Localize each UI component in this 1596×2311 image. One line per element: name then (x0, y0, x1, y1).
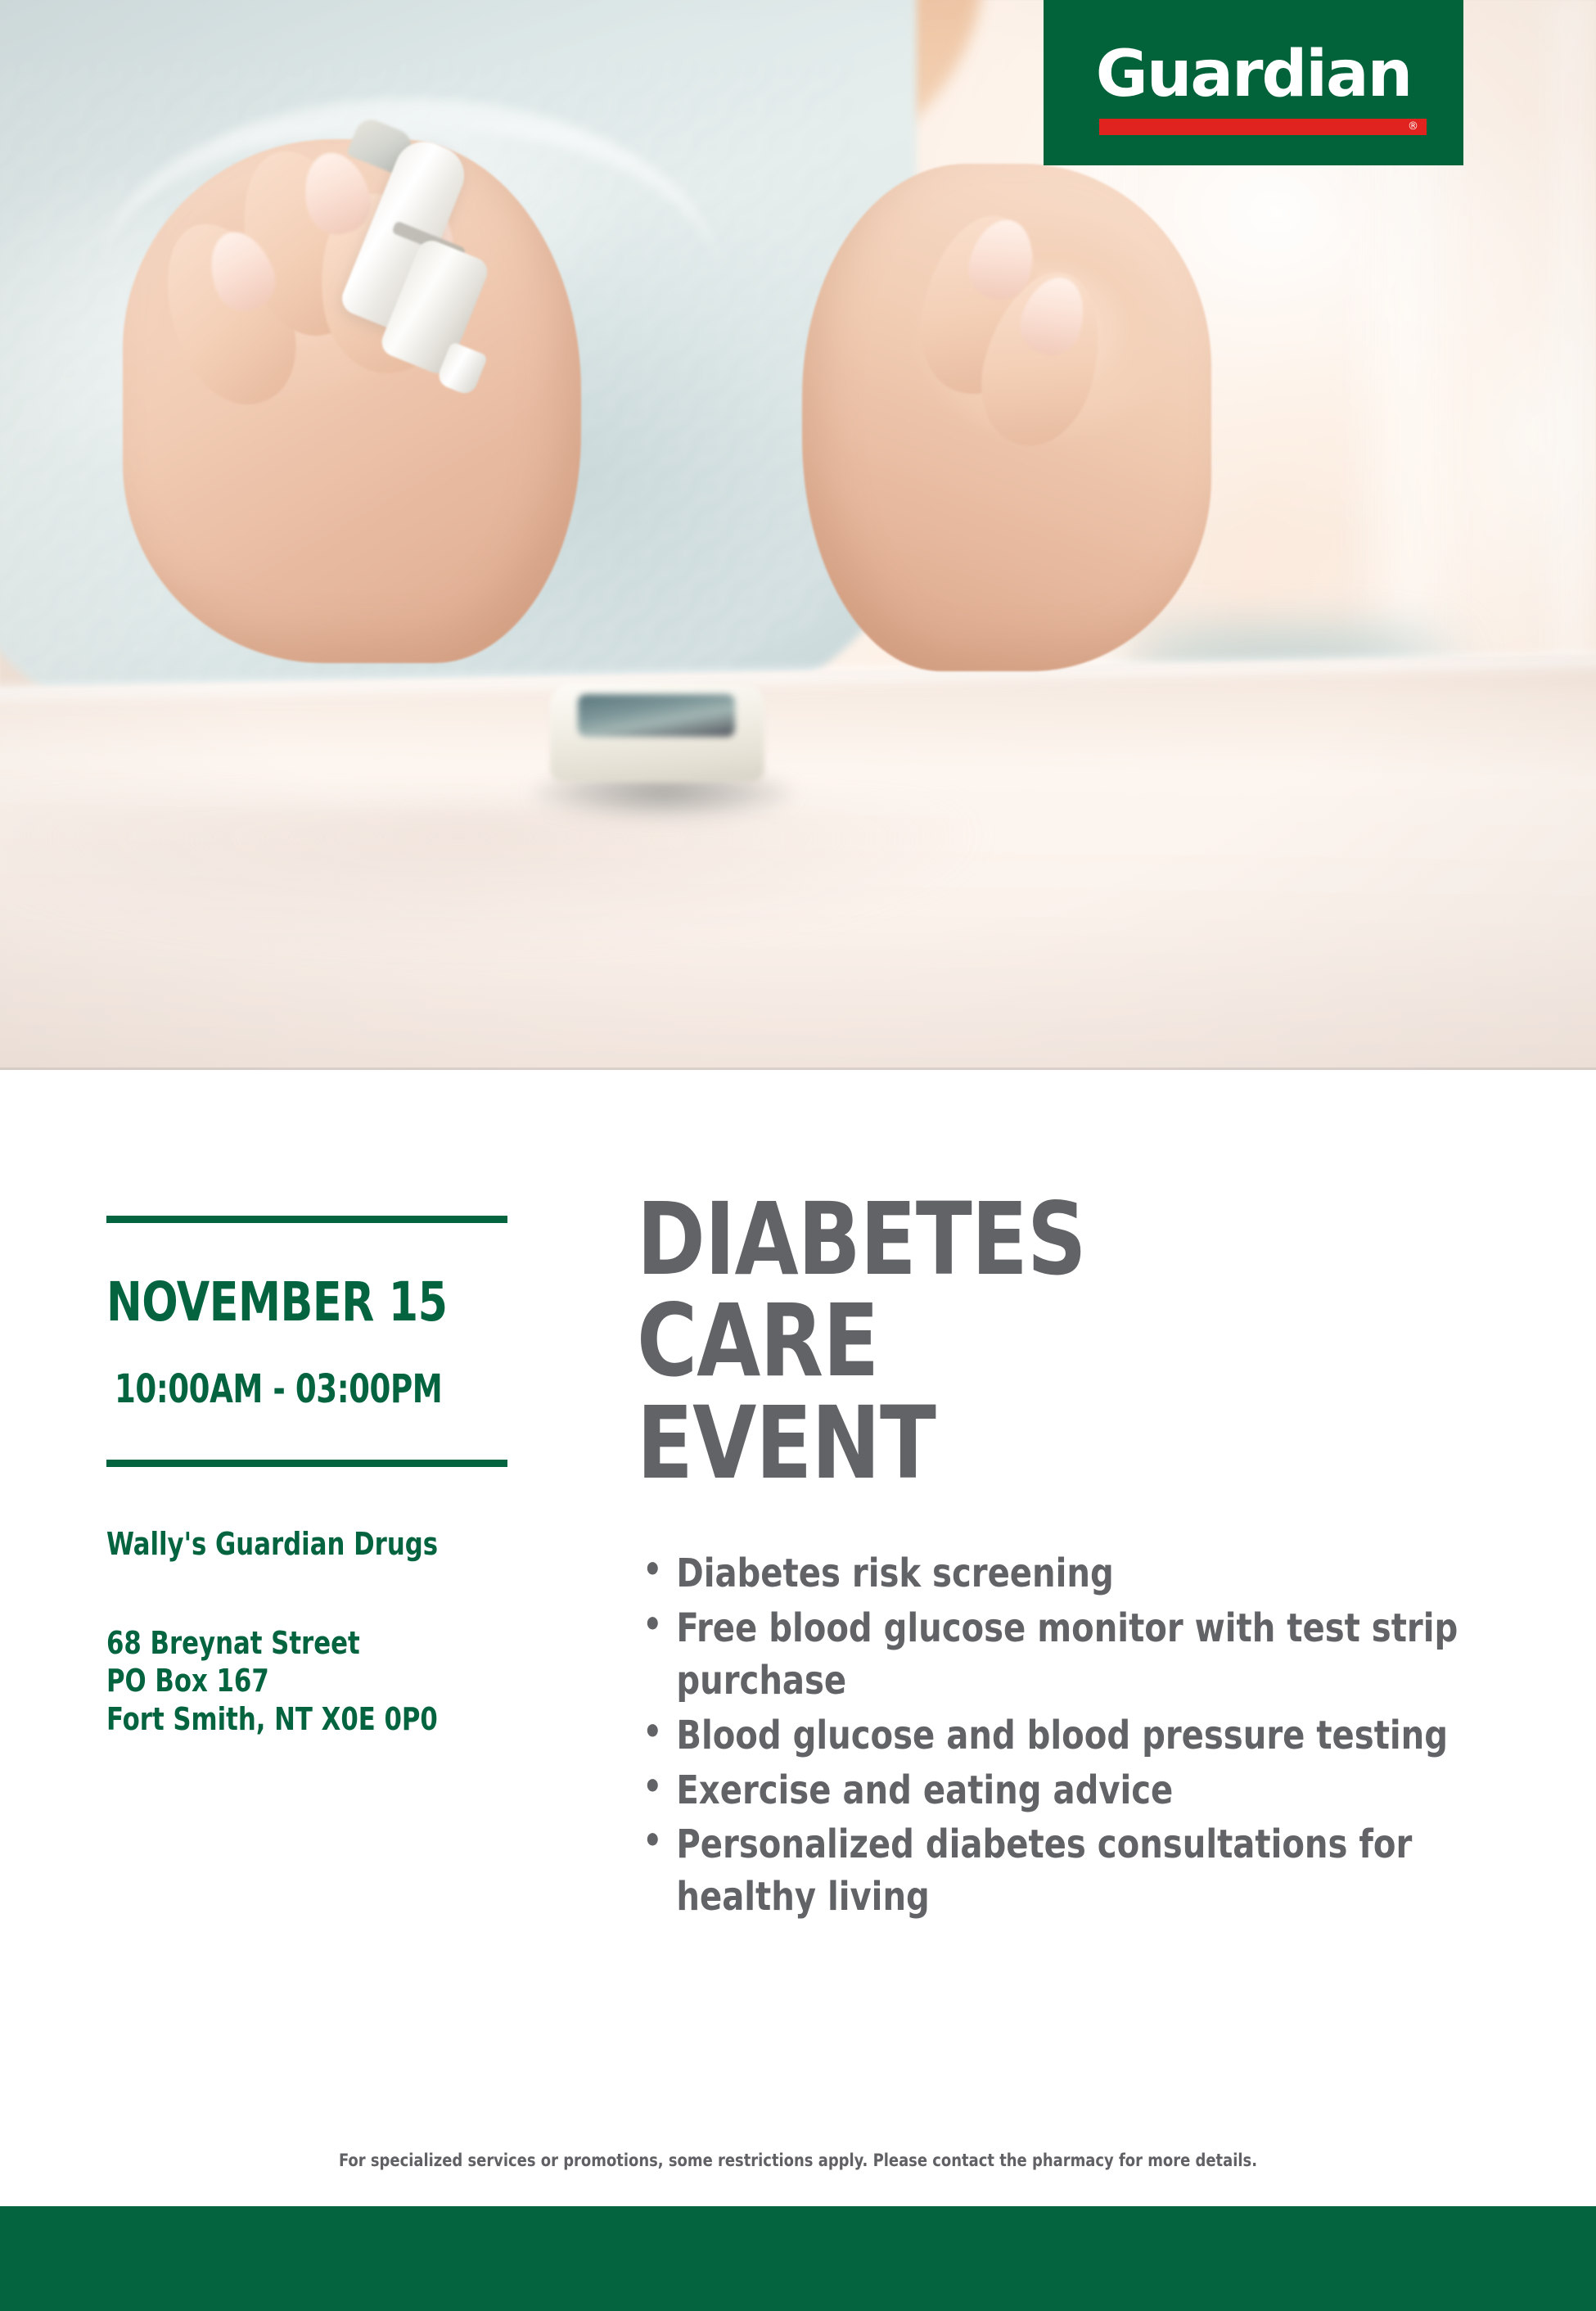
logo-red-bar: ® (1099, 119, 1427, 135)
event-date: NOVEMBER 15 (106, 1271, 467, 1334)
table-reflection (0, 802, 1596, 1070)
list-item: Diabetes risk screening (637, 1548, 1490, 1600)
registered-trademark-icon: ® (1408, 120, 1418, 134)
poster-body: NOVEMBER 15 10:00AM - 03:00PM Wally's Gu… (0, 1070, 1596, 2206)
list-item: Blood glucose and blood pressure testing (637, 1710, 1490, 1763)
divider-top (106, 1216, 507, 1223)
address-line: 68 Breynat Street (106, 1624, 475, 1662)
services-list: Diabetes risk screening Free blood gluco… (637, 1548, 1553, 1924)
divider-bottom (106, 1460, 507, 1467)
disclaimer-text: For specialized services or promotions, … (40, 2151, 1557, 2170)
list-item: Free blood glucose monitor with test str… (637, 1603, 1490, 1708)
event-time: 10:00AM - 03:00PM (115, 1366, 459, 1412)
store-address: 68 Breynat Street PO Box 167 Fort Smith,… (106, 1624, 475, 1738)
event-details-column: NOVEMBER 15 10:00AM - 03:00PM Wally's Gu… (106, 1216, 516, 1738)
page-title: DIABETES CARE EVENT (637, 1189, 1480, 1494)
title-line: EVENT (637, 1392, 1480, 1494)
address-line: Fort Smith, NT X0E 0P0 (106, 1700, 475, 1738)
footer-bar (0, 2206, 1596, 2311)
title-line: CARE (637, 1290, 1480, 1392)
list-item: Exercise and eating advice (637, 1765, 1490, 1817)
list-item: Personalized diabetes consultations for … (637, 1819, 1490, 1924)
title-line: DIABETES (637, 1189, 1480, 1290)
guardian-logo: Guardian ® (1044, 0, 1463, 165)
main-content-column: DIABETES CARE EVENT Diabetes risk screen… (637, 1189, 1553, 1926)
store-name: Wally's Guardian Drugs (106, 1526, 475, 1562)
glucose-meter-screen (578, 694, 735, 737)
address-line: PO Box 167 (106, 1662, 475, 1699)
logo-wordmark: Guardian (1044, 43, 1463, 106)
